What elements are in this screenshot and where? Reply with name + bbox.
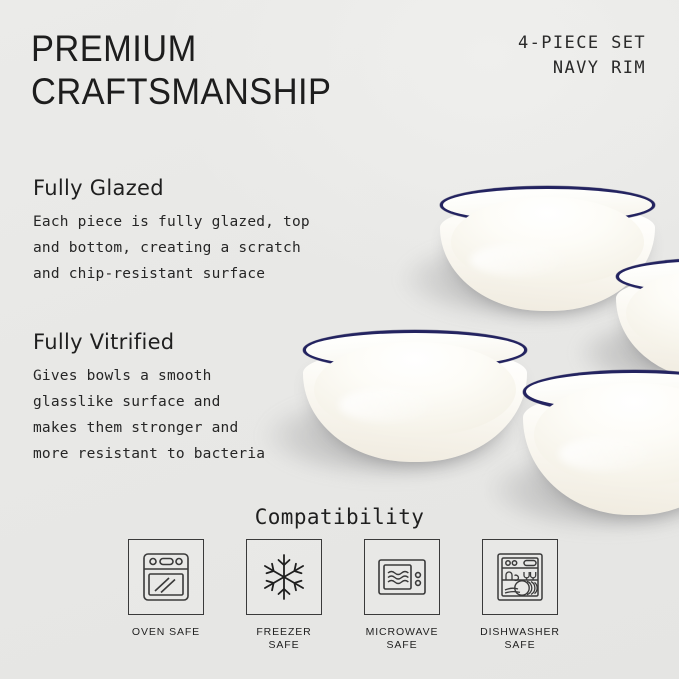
bowl-interior bbox=[451, 197, 645, 287]
bowl-body bbox=[303, 348, 527, 462]
bowl-highlight bbox=[339, 388, 438, 422]
bowl-rim-inner bbox=[443, 189, 652, 221]
bowl-body bbox=[616, 275, 679, 380]
bowl-shadow bbox=[576, 316, 679, 390]
bowl-navy-rim bbox=[303, 330, 527, 370]
feature-heading: Fully Vitrified bbox=[33, 330, 265, 354]
icon-frame bbox=[482, 539, 558, 615]
bowl-middle bbox=[303, 330, 527, 462]
bowl-navy-rim bbox=[616, 258, 679, 295]
icon-frame bbox=[364, 539, 440, 615]
bowl-interior bbox=[534, 383, 679, 487]
bowl-interior bbox=[626, 269, 679, 357]
bowl-rim-inner bbox=[526, 373, 679, 410]
microwave-icon bbox=[375, 553, 429, 601]
bowl-shadow bbox=[262, 392, 512, 480]
compat-caption: FREEZER SAFE bbox=[256, 626, 311, 652]
feature-fully-glazed: Fully Glazed Each piece is fully glazed,… bbox=[33, 176, 310, 287]
feature-body: Gives bowls a smooth glasslike surface a… bbox=[33, 363, 265, 467]
bowl-top bbox=[440, 186, 655, 311]
compat-item-oven: OVEN SAFE bbox=[118, 539, 214, 652]
feature-heading: Fully Glazed bbox=[33, 176, 310, 200]
compat-caption: DISHWASHER SAFE bbox=[480, 626, 560, 652]
bowl-interior bbox=[314, 342, 516, 437]
dishwasher-icon bbox=[494, 550, 546, 604]
snowflake-icon bbox=[258, 550, 310, 604]
icon-frame bbox=[128, 539, 204, 615]
bowl-highlight bbox=[559, 437, 657, 472]
bowl-navy-rim bbox=[523, 370, 679, 414]
compat-caption: MICROWAVE SAFE bbox=[366, 626, 439, 652]
feature-fully-vitrified: Fully Vitrified Gives bowls a smooth gla… bbox=[33, 330, 265, 467]
compat-item-freezer: FREEZER SAFE bbox=[236, 539, 332, 652]
compatibility-heading: Compatibility bbox=[0, 505, 679, 529]
icon-frame bbox=[246, 539, 322, 615]
bowl-body bbox=[523, 390, 679, 515]
bowl-rim-inner bbox=[619, 261, 679, 292]
oven-icon bbox=[140, 550, 192, 604]
bowl-shadow bbox=[400, 236, 650, 322]
bowl-right-cropped bbox=[616, 258, 679, 380]
page-title: PREMIUM CRAFTSMANSHIP bbox=[31, 27, 331, 113]
compat-item-microwave: MICROWAVE SAFE bbox=[354, 539, 450, 652]
compat-caption: OVEN SAFE bbox=[132, 626, 200, 639]
bowl-bottom-right bbox=[523, 370, 679, 515]
compatibility-row: OVEN SAFE bbox=[118, 539, 568, 652]
compat-item-dishwasher: DISHWASHER SAFE bbox=[472, 539, 568, 652]
bowl-rim-inner bbox=[306, 333, 524, 367]
bowl-highlight bbox=[470, 244, 569, 277]
bowl-navy-rim bbox=[440, 186, 655, 224]
product-kicker: 4-PIECE SET NAVY RIM bbox=[518, 31, 646, 81]
feature-body: Each piece is fully glazed, top and bott… bbox=[33, 209, 310, 287]
bowl-body bbox=[440, 204, 655, 312]
infographic-canvas: PREMIUM CRAFTSMANSHIP 4-PIECE SET NAVY R… bbox=[0, 0, 679, 679]
